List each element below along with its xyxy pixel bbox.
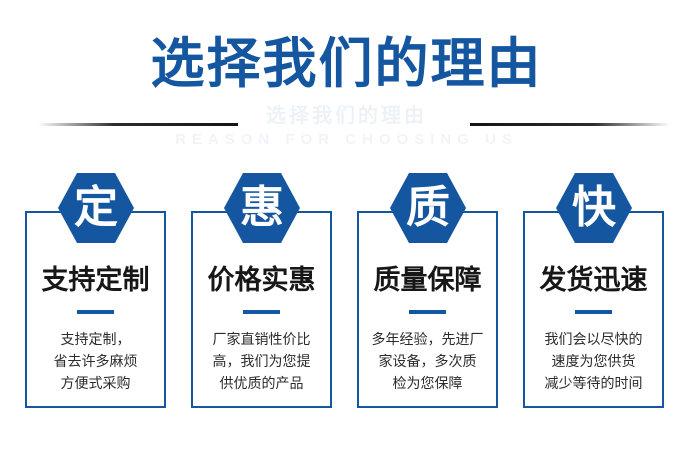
heading-underline	[409, 310, 446, 314]
title-divider	[0, 118, 693, 132]
body-line: 速度为您供货	[529, 350, 658, 372]
feature-card-body: 多年经验，先进厂 家设备，多次质 检为您保障	[363, 328, 492, 394]
heading-underline	[575, 310, 612, 314]
heading-underline	[243, 310, 280, 314]
feature-card-body: 支持定制， 省去许多麻烦 方便式采购	[31, 328, 160, 394]
body-line: 高，我们为您提	[197, 350, 326, 372]
divider-line-right	[470, 123, 670, 126]
feature-card-heading: 发货迅速	[525, 263, 662, 297]
feature-card-row: 支持定制 支持定制， 省去许多麻烦 方便式采购 定 价格实惠 厂家直销性价比 高…	[0, 173, 693, 413]
body-line: 供优质的产品	[197, 372, 326, 394]
body-line: 检为您保障	[363, 372, 492, 394]
promo-page: { "header": { "title": "选择我们的理由", "water…	[0, 0, 693, 460]
body-line: 减少等待的时间	[529, 372, 658, 394]
body-line: 我们会以尽快的	[529, 328, 658, 350]
body-line: 省去许多麻烦	[31, 350, 160, 372]
page-title: 选择我们的理由	[0, 33, 693, 95]
feature-card-body: 厂家直销性价比 高，我们为您提 供优质的产品	[197, 328, 326, 394]
body-line: 多年经验，先进厂	[363, 328, 492, 350]
body-line: 支持定制，	[31, 328, 160, 350]
feature-card-heading: 支持定制	[27, 263, 164, 297]
heading-underline	[77, 310, 114, 314]
divider-line-left	[38, 123, 238, 126]
body-line: 方便式采购	[31, 372, 160, 394]
page-header: 选择我们的理由 选择我们的理由 REASON FOR CHOOSING US	[0, 0, 693, 145]
feature-card-heading: 质量保障	[359, 263, 496, 297]
feature-card-body: 我们会以尽快的 速度为您供货 减少等待的时间	[529, 328, 658, 394]
body-line: 厂家直销性价比	[197, 328, 326, 350]
feature-card-heading: 价格实惠	[193, 263, 330, 297]
body-line: 家设备，多次质	[363, 350, 492, 372]
